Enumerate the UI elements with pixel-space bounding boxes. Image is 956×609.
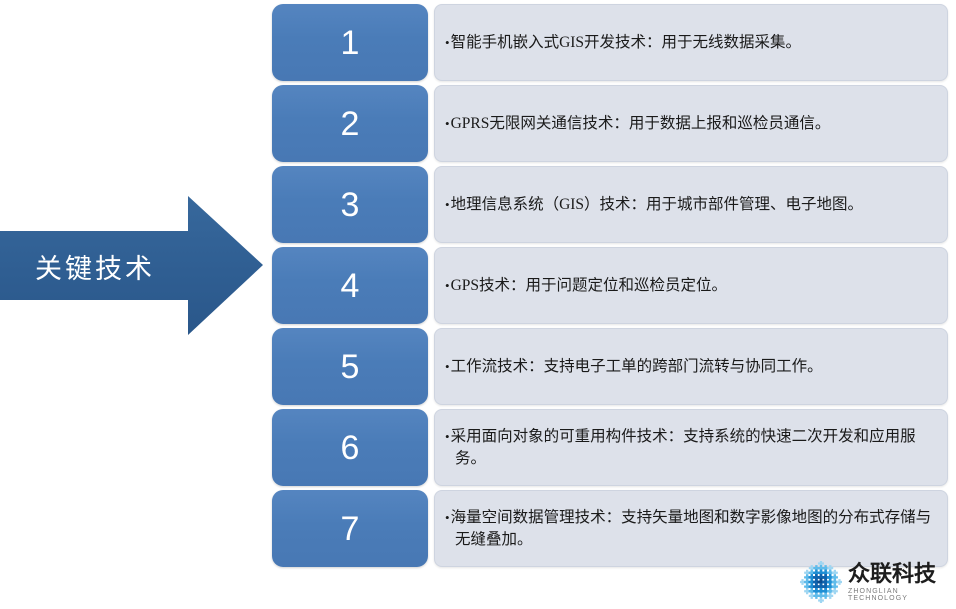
item-text-panel: 地理信息系统（GIS）技术：用于城市部件管理、电子地图。 bbox=[434, 166, 948, 243]
list-item[interactable]: 6 采用面向对象的可重用构件技术：支持系统的快速二次开发和应用服务。 bbox=[272, 409, 948, 486]
slide-canvas: 关键技术 1 智能手机嵌入式GIS开发技术：用于无线数据采集。 2 GPRS无限… bbox=[0, 0, 956, 609]
item-text: 采用面向对象的可重用构件技术：支持系统的快速二次开发和应用服务。 bbox=[445, 426, 935, 470]
item-number-badge: 3 bbox=[272, 166, 428, 243]
logo-name-en: ZHONGLIAN TECHNOLOGY bbox=[848, 588, 950, 602]
item-number-badge: 2 bbox=[272, 85, 428, 162]
item-number-badge: 7 bbox=[272, 490, 428, 567]
list-item[interactable]: 4 GPS技术：用于问题定位和巡检员定位。 bbox=[272, 247, 948, 324]
list-item[interactable]: 2 GPRS无限网关通信技术：用于数据上报和巡检员通信。 bbox=[272, 85, 948, 162]
item-number-badge: 4 bbox=[272, 247, 428, 324]
item-text-panel: 海量空间数据管理技术：支持矢量地图和数字影像地图的分布式存储与无缝叠加。 bbox=[434, 490, 948, 567]
item-text: GPS技术：用于问题定位和巡检员定位。 bbox=[445, 275, 727, 297]
item-number-badge: 5 bbox=[272, 328, 428, 405]
item-text: 地理信息系统（GIS）技术：用于城市部件管理、电子地图。 bbox=[445, 194, 863, 216]
item-text-panel: 工作流技术：支持电子工单的跨部门流转与协同工作。 bbox=[434, 328, 948, 405]
arrow-shape bbox=[0, 190, 270, 340]
list-item[interactable]: 5 工作流技术：支持电子工单的跨部门流转与协同工作。 bbox=[272, 328, 948, 405]
list-item[interactable]: 3 地理信息系统（GIS）技术：用于城市部件管理、电子地图。 bbox=[272, 166, 948, 243]
item-number-badge: 1 bbox=[272, 4, 428, 81]
logo-wordmark: 众联科技 ZHONGLIAN TECHNOLOGY bbox=[848, 563, 950, 602]
item-number-badge: 6 bbox=[272, 409, 428, 486]
item-text-panel: 采用面向对象的可重用构件技术：支持系统的快速二次开发和应用服务。 bbox=[434, 409, 948, 486]
item-text: 工作流技术：支持电子工单的跨部门流转与协同工作。 bbox=[445, 356, 823, 378]
list-item[interactable]: 1 智能手机嵌入式GIS开发技术：用于无线数据采集。 bbox=[272, 4, 948, 81]
sphere-dots-icon bbox=[800, 561, 842, 603]
list-item[interactable]: 7 海量空间数据管理技术：支持矢量地图和数字影像地图的分布式存储与无缝叠加。 bbox=[272, 490, 948, 567]
item-text-panel: GPS技术：用于问题定位和巡检员定位。 bbox=[434, 247, 948, 324]
item-text: 海量空间数据管理技术：支持矢量地图和数字影像地图的分布式存储与无缝叠加。 bbox=[445, 507, 935, 551]
item-text: 智能手机嵌入式GIS开发技术：用于无线数据采集。 bbox=[445, 32, 801, 54]
logo-name-cn: 众联科技 bbox=[848, 563, 950, 585]
key-technology-arrow: 关键技术 bbox=[0, 190, 270, 340]
item-text: GPRS无限网关通信技术：用于数据上报和巡检员通信。 bbox=[445, 113, 830, 135]
technology-list: 1 智能手机嵌入式GIS开发技术：用于无线数据采集。 2 GPRS无限网关通信技… bbox=[272, 4, 948, 571]
item-text-panel: 智能手机嵌入式GIS开发技术：用于无线数据采集。 bbox=[434, 4, 948, 81]
item-text-panel: GPRS无限网关通信技术：用于数据上报和巡检员通信。 bbox=[434, 85, 948, 162]
company-logo: 众联科技 ZHONGLIAN TECHNOLOGY bbox=[800, 560, 950, 604]
